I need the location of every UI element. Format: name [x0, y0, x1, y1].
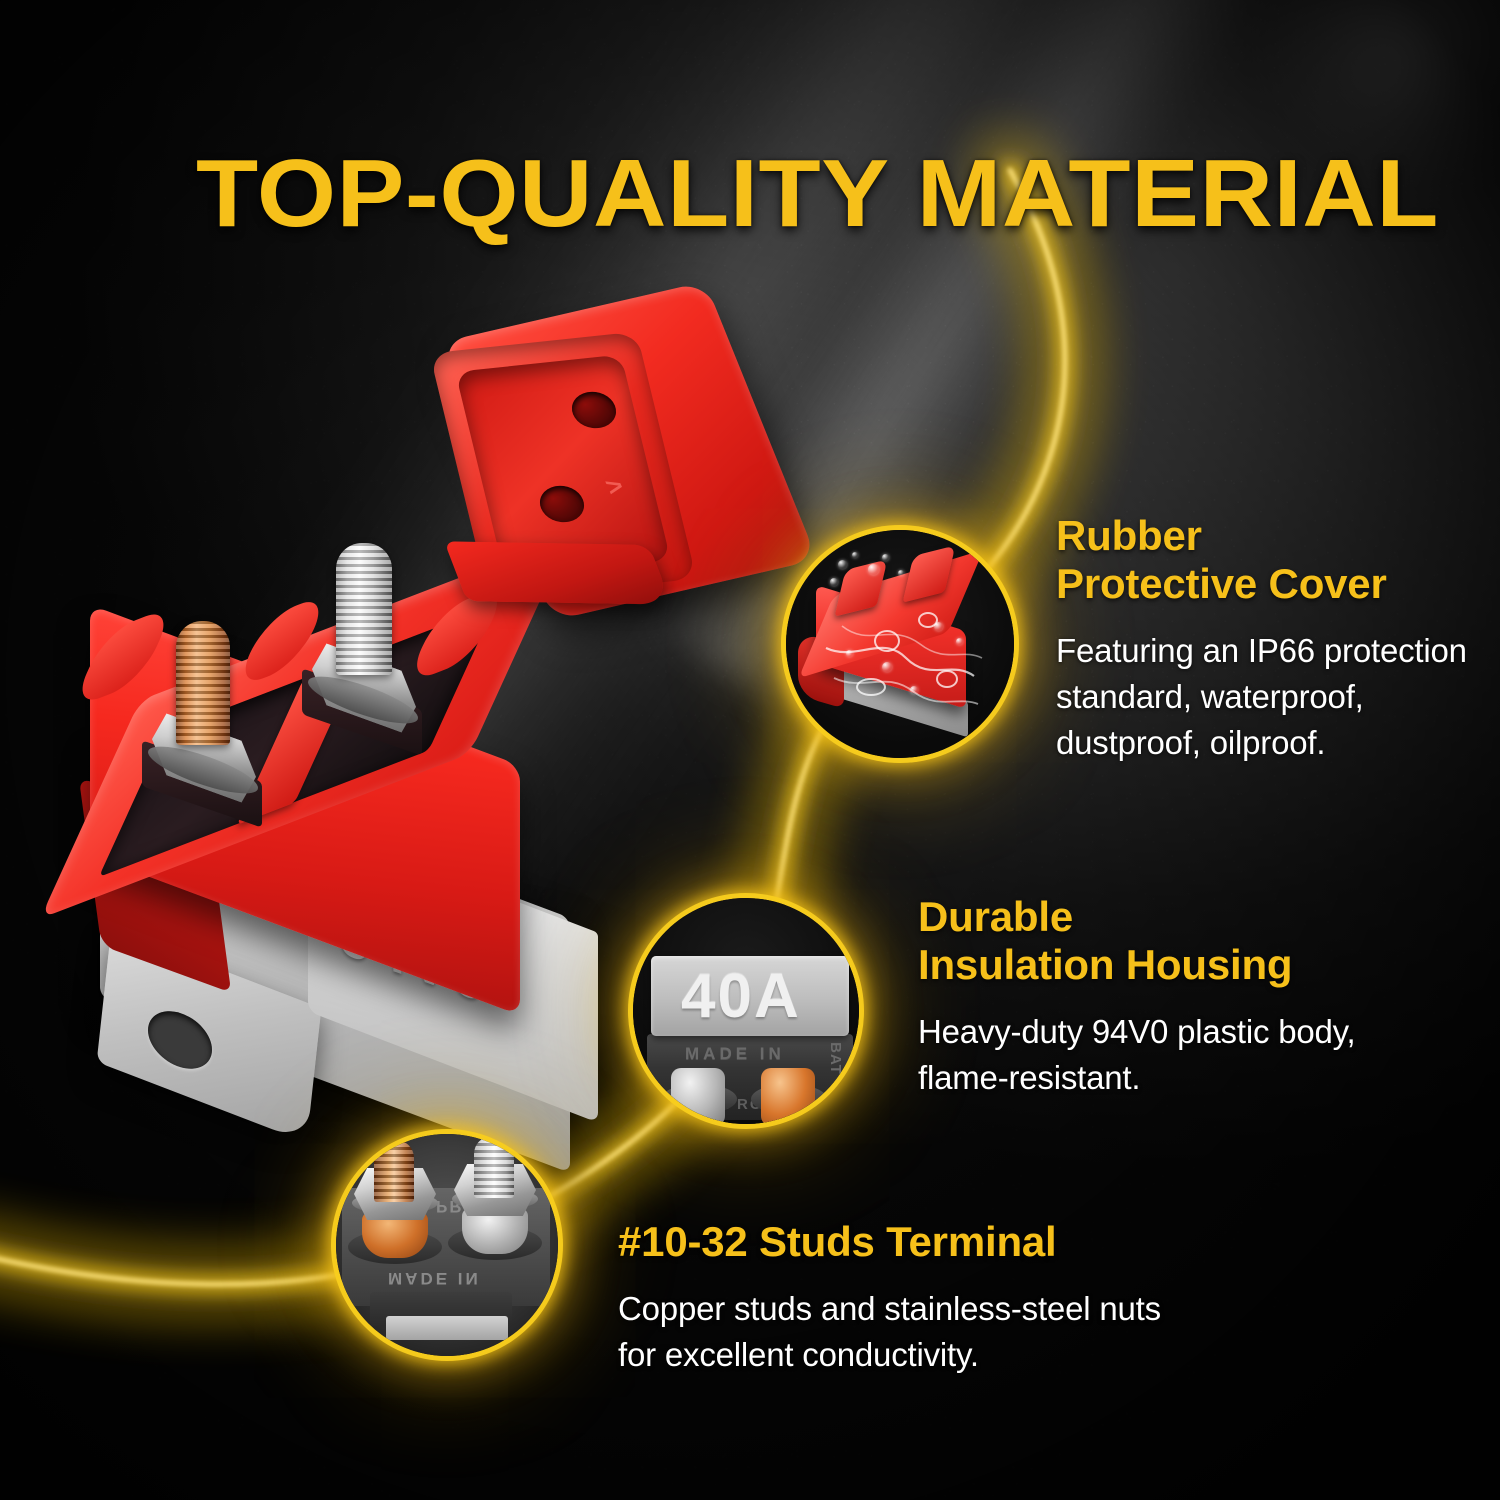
feature-rubber-cover: Rubber Protective Cover Featuring an IP6… — [1056, 512, 1496, 766]
feature-2-body: Heavy-duty 94V0 plastic body, flame-resi… — [918, 1009, 1488, 1101]
steel-stud-shaft — [336, 543, 392, 675]
page-title: TOP-QUALITY MATERIAL — [196, 144, 1447, 245]
copper-stud-shaft — [176, 621, 230, 745]
infographic-canvas: TOP-QUALITY MATERIAL 94V0 — [0, 0, 1500, 1500]
callout-insulation-housing[interactable]: 40A MADE IN BAT PRC — [633, 898, 859, 1124]
steel-terminal-shaft — [474, 1136, 514, 1198]
callout-3-silver-base — [386, 1316, 508, 1340]
feature-studs-terminal: #10-32 Studs Terminal Copper studs and s… — [618, 1218, 1218, 1378]
water-stream-paths — [786, 530, 1014, 758]
feature-insulation-housing: Durable Insulation Housing Heavy-duty 94… — [918, 893, 1488, 1101]
housing-rating-label: 40A — [681, 961, 801, 1032]
callout-housing-scene: 40A MADE IN BAT PRC — [633, 898, 859, 1124]
feature-3-body: Copper studs and stainless-steel nuts fo… — [618, 1286, 1218, 1378]
callout-studs-terminal[interactable]: PRC MADE IN — [336, 1134, 558, 1356]
callout-2-steel-stud — [671, 1068, 725, 1124]
lid-hinge-strap — [444, 541, 672, 604]
feature-1-body: Featuring an IP66 protection standard, w… — [1056, 628, 1496, 767]
housing-bat-text: BAT — [827, 1042, 844, 1075]
callout-studs-scene: PRC MADE IN — [336, 1134, 558, 1356]
housing-made-in-text: MADE IN — [685, 1044, 785, 1064]
terminal-made-in-text: MADE IN — [388, 1268, 481, 1288]
feature-3-title: #10-32 Studs Terminal — [618, 1218, 1218, 1266]
callout-rubber-cover-scene — [786, 530, 1014, 758]
rubber-cover-lid: > — [455, 295, 775, 625]
callout-rubber-cover[interactable] — [786, 530, 1014, 758]
copper-terminal-shaft — [374, 1140, 414, 1202]
feature-1-title: Rubber Protective Cover — [1056, 512, 1496, 608]
callout-2-copper-stud — [761, 1068, 815, 1124]
feature-2-title: Durable Insulation Housing — [918, 893, 1488, 989]
